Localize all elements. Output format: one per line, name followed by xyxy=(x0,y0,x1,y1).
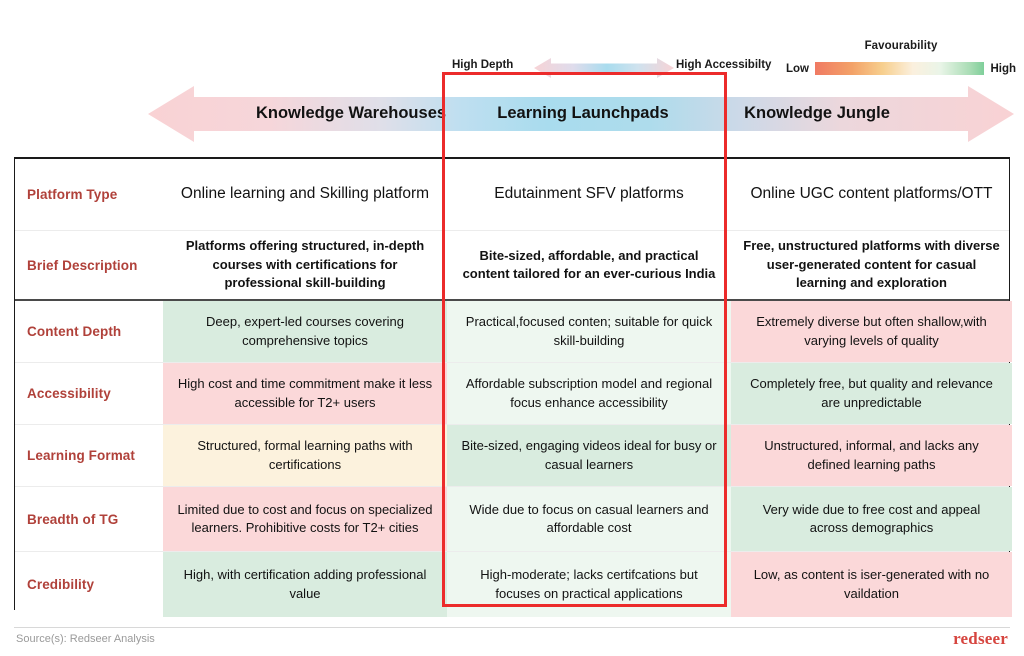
favourability-legend: Favourability Low High xyxy=(786,40,1016,78)
row-label-credibility: Credibility xyxy=(15,552,163,617)
legend-high-label: High xyxy=(990,63,1016,75)
table-row: Learning Format Structured, formal learn… xyxy=(15,425,1009,487)
table-cell: Unstructured, informal, and lacks any de… xyxy=(731,425,1012,486)
legend-gradient-bar xyxy=(815,62,984,75)
table-cell: Practical,focused conten; suitable for q… xyxy=(447,301,731,362)
table-row: Brief Description Platforms offering str… xyxy=(15,231,1009,301)
table-cell: Low, as content is iser-generated with n… xyxy=(731,552,1012,617)
table-row: Platform Type Online learning and Skilli… xyxy=(15,159,1009,231)
table-cell: Structured, formal learning paths with c… xyxy=(163,425,447,486)
table-cell: Extremely diverse but often shallow,with… xyxy=(731,301,1012,362)
table-cell: Deep, expert-led courses covering compre… xyxy=(163,301,447,362)
legend-low-label: Low xyxy=(786,63,809,75)
row-label-learning-format: Learning Format xyxy=(15,425,163,486)
table-row: Content Depth Deep, expert-led courses c… xyxy=(15,301,1009,363)
table-row: Credibility High, with certification add… xyxy=(15,552,1009,617)
table-cell: Free, unstructured platforms with divers… xyxy=(731,231,1012,299)
row-label-brief-description: Brief Description xyxy=(15,231,163,299)
table-cell: Edutainment SFV platforms xyxy=(447,159,731,230)
table-cell: Limited due to cost and focus on special… xyxy=(163,487,447,551)
row-label-accessibility: Accessibility xyxy=(15,363,163,424)
table-cell: Completely free, but quality and relevan… xyxy=(731,363,1012,424)
double-headed-arrow-icon xyxy=(534,57,674,79)
comparison-table: Platform Type Online learning and Skilli… xyxy=(14,157,1010,610)
legend-title: Favourability xyxy=(786,40,1016,52)
row-label-platform-type: Platform Type xyxy=(15,159,163,230)
legend-scale: Low High xyxy=(786,61,1016,76)
table-row: Breadth of TG Limited due to cost and fo… xyxy=(15,487,1009,552)
table-cell: High, with certification adding professi… xyxy=(163,552,447,617)
axis-label-high-depth: High Depth xyxy=(452,59,513,71)
table-cell: Platforms offering structured, in-depth … xyxy=(163,231,447,299)
footer-divider xyxy=(14,627,1010,628)
table-cell: Online learning and Skilling platform xyxy=(163,159,447,230)
band-label-knowledge-jungle: Knowledge Jungle xyxy=(676,104,958,123)
row-label-content-depth: Content Depth xyxy=(15,301,163,362)
table-cell: Very wide due to free cost and appeal ac… xyxy=(731,487,1012,551)
table-cell: Wide due to focus on casual learners and… xyxy=(447,487,731,551)
spectrum-band: Knowledge Warehouses Learning Launchpads… xyxy=(148,84,1014,144)
table-cell: Bite-sized, affordable, and practical co… xyxy=(447,231,731,299)
table-cell: Online UGC content platforms/OTT xyxy=(731,159,1012,230)
table-cell: Affordable subscription model and region… xyxy=(447,363,731,424)
table-cell: High cost and time commitment make it le… xyxy=(163,363,447,424)
axis-label-high-accessibility: High Accessibilty xyxy=(676,59,771,71)
source-note: Source(s): Redseer Analysis xyxy=(16,633,155,645)
row-label-breadth-of-tg: Breadth of TG xyxy=(15,487,163,551)
redseer-logo: redseer xyxy=(953,629,1008,649)
band-labels: Knowledge Warehouses Learning Launchpads… xyxy=(148,84,1014,144)
table-cell: High-moderate; lacks certifcations but f… xyxy=(447,552,731,617)
table-row: Accessibility High cost and time commitm… xyxy=(15,363,1009,425)
table-cell: Bite-sized, engaging videos ideal for bu… xyxy=(447,425,731,486)
